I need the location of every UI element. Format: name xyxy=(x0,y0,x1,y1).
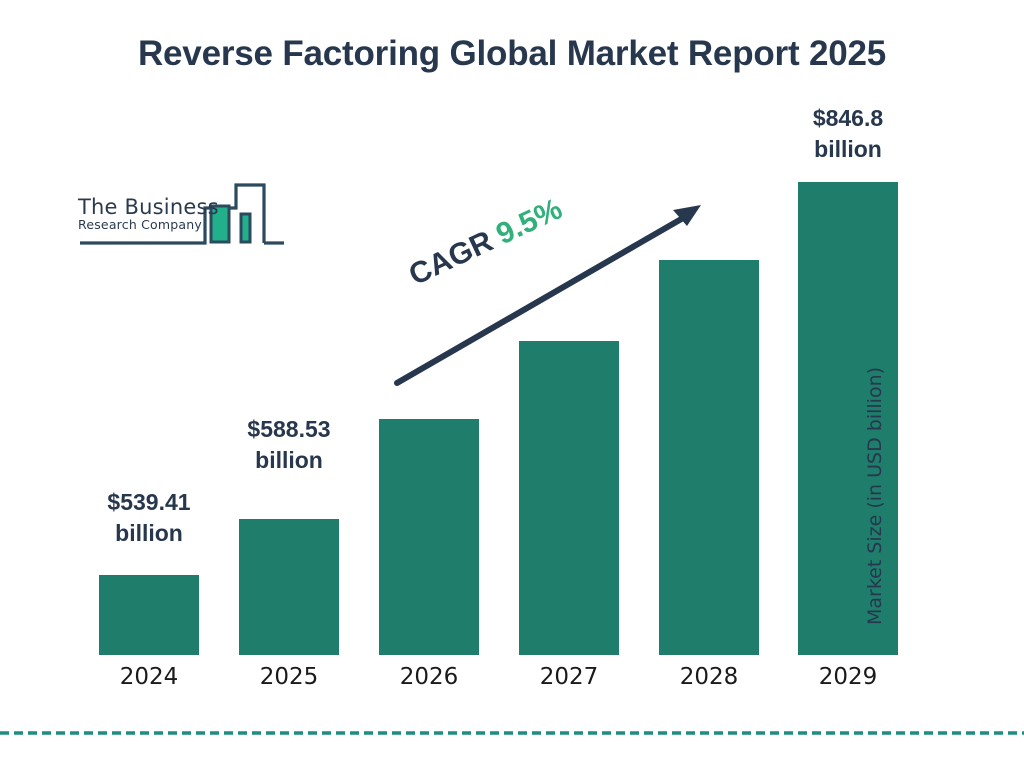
x-axis-label-2025: 2025 xyxy=(239,664,339,690)
bar-chart-plot-area: $539.41 billion $588.53 billion $846.8 b… xyxy=(0,0,1024,768)
cagr-label: CAGR xyxy=(404,225,498,292)
value-label-2025: $588.53 billion xyxy=(189,414,389,476)
x-axis-label-2028: 2028 xyxy=(659,664,759,690)
y-axis-title: Market Size (in USD billion) xyxy=(864,336,886,656)
bar-2026 xyxy=(379,419,479,655)
value-label-2029: $846.8 billion xyxy=(748,103,948,165)
value-label-2025-line2: billion xyxy=(189,445,389,476)
value-label-2024-line1: $539.41 xyxy=(49,487,249,518)
bar-2024 xyxy=(99,575,199,655)
chart-page: Reverse Factoring Global Market Report 2… xyxy=(0,0,1024,768)
x-axis-label-2026: 2026 xyxy=(379,664,479,690)
bar-2025 xyxy=(239,519,339,655)
value-label-2024: $539.41 billion xyxy=(49,487,249,549)
value-label-2029-line2: billion xyxy=(748,134,948,165)
bar-2028 xyxy=(659,260,759,655)
cagr-annotation: CAGR9.5% xyxy=(404,192,568,292)
x-axis-label-2024: 2024 xyxy=(99,664,199,690)
value-label-2029-line1: $846.8 xyxy=(748,103,948,134)
bar-2027 xyxy=(519,341,619,655)
cagr-value: 9.5% xyxy=(491,192,567,251)
bottom-divider xyxy=(0,731,1024,735)
x-axis-label-2029: 2029 xyxy=(798,664,898,690)
value-label-2024-line2: billion xyxy=(49,518,249,549)
x-axis-label-2027: 2027 xyxy=(519,664,619,690)
value-label-2025-line1: $588.53 xyxy=(189,414,389,445)
